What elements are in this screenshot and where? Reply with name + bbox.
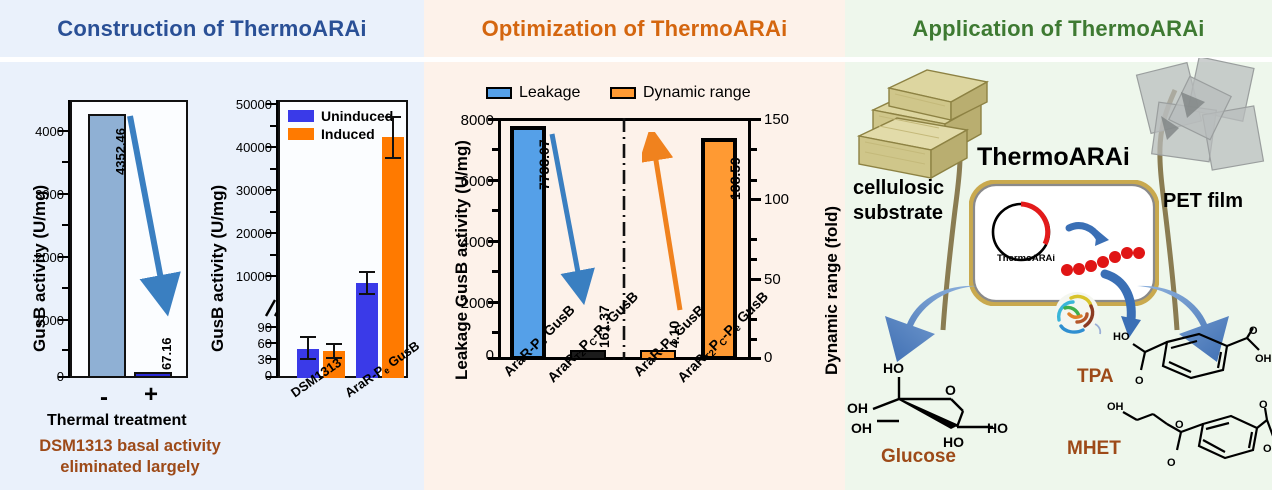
panel-optimization-divider	[424, 57, 845, 62]
chart2-errcap-bot-dsm1313-uninduced	[300, 358, 316, 360]
construction-callout-line2: eliminated largely	[8, 457, 252, 478]
panel-optimization-title: Optimization of ThermoARAi	[482, 16, 788, 42]
chart3-ltick-2000	[488, 301, 500, 304]
figure-root: Construction of ThermoARAi GusB activity…	[0, 0, 1272, 490]
chart3-ltick-3000	[492, 270, 500, 273]
chart2-errcap-top-dsm1313-uninduced	[300, 336, 316, 338]
chart1-x-axis-title: Thermal treatment	[47, 412, 187, 430]
chart3-ltick-5000	[492, 209, 500, 212]
chart3-ltick-7000	[492, 148, 500, 151]
chart3-ltick-1000	[492, 331, 500, 334]
mhet-atom-o-carbonyl: O	[1167, 457, 1176, 469]
chart3-rtick-100	[749, 198, 761, 201]
chart3-bar-dynamic-arart2-value: 138.59	[727, 157, 743, 200]
chart3-group-divider	[622, 118, 626, 360]
chart2-errcap-top-dsm1313-induced	[326, 343, 342, 345]
chart2-legend-swatch-induced	[288, 128, 314, 140]
panel-construction: Construction of ThermoARAi GusB activity…	[0, 0, 424, 490]
chart3-y2-axis-title: Dynamic range (fold)	[822, 206, 842, 375]
panel-application-header: Application of ThermoARAi	[845, 0, 1272, 57]
chart2-errcap-bot-arar-induced	[385, 157, 401, 159]
tpa-atom-oh: OH	[1255, 353, 1271, 365]
chart2-err-arar-induced	[392, 116, 394, 159]
chart2-ytick-50000: 50000	[215, 97, 272, 112]
chart3-rtick-87	[749, 238, 757, 241]
chart3-rtick-50	[749, 278, 761, 281]
glucose-atom-ho-right: HO	[987, 420, 1008, 436]
chart1-tick-minor-1500	[62, 287, 69, 289]
enzyme-structure-icon	[1051, 288, 1103, 338]
chart3-legend-swatch-leakage	[486, 87, 512, 99]
glucose-atom-oh-left: OH	[847, 400, 868, 416]
panel-construction-divider	[0, 57, 424, 62]
chart2-legend-uninduced: Uninduced	[288, 108, 393, 124]
chart2-errcap-top-arar-uninduced	[359, 271, 375, 273]
construction-callout-line1: DSM1313 basal activity	[8, 436, 252, 457]
chart3-rtick-75	[749, 258, 757, 261]
chart2-tick-0	[266, 376, 277, 378]
chart3-rtick-0	[749, 357, 761, 360]
panel-application-title: Application of ThermoARAi	[912, 16, 1204, 42]
chart3-y2tick-100: 100	[764, 191, 804, 208]
cellulosic-substrate-label: cellulosic substrate	[853, 176, 944, 226]
glucose-atom-ho-top: HO	[883, 360, 904, 376]
thermoarai-cell-name: ThermoARAi	[977, 143, 1130, 172]
construction-callout: DSM1313 basal activity eliminated largel…	[8, 436, 252, 478]
chart2-tick-45000	[270, 125, 277, 127]
chart2-legend-swatch-uninduced	[288, 110, 314, 122]
hay-bales-icon	[853, 62, 993, 182]
tpa-atom-o2: O	[1249, 326, 1258, 337]
pet-film-label: PET film	[1163, 190, 1243, 213]
mhet-atom-o-ester: O	[1175, 419, 1184, 431]
chart3-y2tick-50: 50	[764, 271, 804, 288]
chart2-err-dsm1313-uninduced	[307, 336, 309, 360]
tpa-structure: HO O O OH	[1111, 326, 1271, 396]
chart2-errcap-top-arar-induced	[385, 116, 401, 118]
chart2-bar-arar-induced	[382, 137, 404, 378]
panel-construction-header: Construction of ThermoARAi	[0, 0, 424, 57]
chart3-ytick-6000: 6000	[446, 173, 494, 190]
pet-film-icon	[1133, 58, 1272, 183]
chart2-tick-30	[266, 358, 277, 360]
chart2-errcap-bot-arar-uninduced	[359, 293, 375, 295]
chart3-ytick-0: 0	[446, 347, 494, 364]
chart3-y-axis-line	[498, 118, 501, 360]
chart2-ytick-40000: 40000	[215, 140, 272, 155]
chart1-tick-minor-500	[62, 349, 69, 351]
chart3-legend-dynamic-range: Dynamic range	[610, 84, 751, 102]
chart1-tick-minor-3500	[62, 161, 69, 163]
mhet-atom-o-top: O	[1259, 399, 1268, 411]
chart2-legend-induced: Induced	[288, 126, 375, 142]
chart2-legend-label-induced: Induced	[321, 126, 375, 142]
chart3-ltick-6000	[488, 179, 500, 182]
chart3-legend-leakage: Leakage	[486, 84, 580, 102]
chart2-tick-15000	[270, 254, 277, 256]
mhet-atom-oh-right: OH	[1263, 443, 1272, 455]
mhet-label: MHET	[1067, 438, 1121, 460]
chart2-tick-20000	[266, 232, 277, 234]
chart1-tick-minor-2500	[62, 224, 69, 226]
chart2-legend-label-uninduced: Uninduced	[321, 108, 393, 124]
panel-construction-title: Construction of ThermoARAi	[57, 16, 367, 42]
chart3-dynamic-range-arrow	[642, 132, 712, 322]
chart3-ytick-2000: 2000	[446, 295, 494, 312]
chart3-legend-swatch-dynamic-range	[610, 87, 636, 99]
chart2-tick-25000	[270, 211, 277, 213]
chart1-tick-major-1000	[58, 319, 69, 321]
glucose-label: Glucose	[881, 446, 956, 468]
chart3-rtick-150	[749, 118, 761, 121]
chart1-tick-major-0	[58, 376, 69, 378]
mhet-structure: OH O O O OH	[1107, 398, 1272, 478]
chart1-xtick-plus: +	[144, 381, 158, 409]
chart2-tick-30000	[266, 189, 277, 191]
chart2-ytick-10000: 10000	[215, 269, 272, 284]
chart2-tick-50000	[266, 103, 277, 105]
glucose-atom-o-ring: O	[945, 382, 956, 398]
chart2-ytick-20000: 20000	[215, 226, 272, 241]
glucose-structure: HO OH OH O HO HO	[847, 355, 1017, 460]
chart1-bar-plus	[134, 372, 172, 378]
chart3-rtick-137	[749, 148, 757, 151]
chart3-leakage-arrow	[542, 128, 612, 318]
panel-application: Application of ThermoARAi	[845, 0, 1272, 490]
chart1-decline-arrow	[118, 108, 198, 328]
glucose-atom-oh-left2: OH	[851, 420, 872, 436]
chart1-bar-plus-value: 67.16	[159, 337, 174, 370]
chart1-xtick-minus: -	[100, 384, 108, 412]
mhet-atom-oh-left: OH	[1107, 401, 1124, 413]
chart3-y2tick-0: 0	[764, 349, 804, 366]
chart3-ytick-8000: 8000	[446, 112, 494, 129]
chart2-tick-90	[266, 326, 277, 328]
chart2-err-arar-uninduced	[366, 271, 368, 295]
chart3-legend-label-leakage: Leakage	[519, 84, 580, 102]
chart3-rtick-125	[749, 179, 757, 182]
chart3-rtick-12	[749, 338, 757, 341]
chart1-tick-major-2000	[58, 256, 69, 258]
chart3-y2tick-150: 150	[764, 111, 804, 128]
chart2-ytick-30000: 30000	[215, 183, 272, 198]
chart2-tick-10000	[266, 275, 277, 277]
chart1-tick-major-4000	[58, 130, 69, 132]
panel-optimization-header: Optimization of ThermoARAi	[424, 0, 845, 57]
panel-optimization: Optimization of ThermoARAi Leakage GusB …	[424, 0, 845, 490]
chart3-ytick-4000: 4000	[446, 234, 494, 251]
chart3-legend-label-dynamic-range: Dynamic range	[643, 84, 751, 102]
tpa-label: TPA	[1077, 366, 1114, 388]
chart2-tick-35000	[270, 168, 277, 170]
chart1-tick-major-3000	[58, 193, 69, 195]
chart2-tick-60	[266, 342, 277, 344]
tpa-atom-ho: HO	[1113, 331, 1130, 343]
chart2-tick-40000	[266, 146, 277, 148]
plasmid-label: ThermoARAi	[997, 253, 1055, 264]
tpa-atom-o1: O	[1135, 375, 1144, 387]
chart3-ltick-4000	[488, 240, 500, 243]
